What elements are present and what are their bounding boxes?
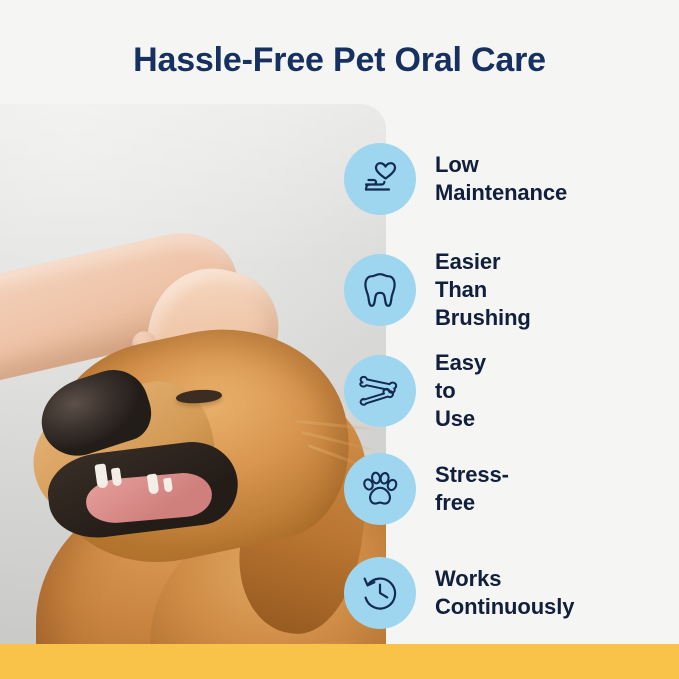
paw-print-icon	[344, 453, 416, 525]
feature-label: Works Continuously	[435, 565, 574, 621]
feature-item-stress-free: Stress-free	[344, 453, 509, 525]
bottom-accent-bar	[0, 644, 679, 679]
product-photo	[0, 104, 386, 644]
feature-label: Low Maintenance	[435, 151, 567, 207]
feature-item-low-maintenance: Low Maintenance	[344, 143, 567, 215]
heart-in-hand-icon	[344, 143, 416, 215]
feature-item-works-continuously: Works Continuously	[344, 557, 574, 629]
crossed-bones-icon	[344, 355, 416, 427]
tooth-icon	[344, 254, 416, 326]
clock-refresh-icon	[344, 557, 416, 629]
feature-label: Stress-free	[435, 461, 509, 517]
feature-label: Easy to Use	[435, 349, 486, 433]
promotional-poster: Hassle-Free Pet Oral Care	[0, 0, 679, 679]
feature-label: Easier Than Brushing	[435, 248, 531, 332]
feature-item-easy-to-use: Easy to Use	[344, 349, 486, 433]
feature-item-easier-than-brushing: Easier Than Brushing	[344, 248, 531, 332]
page-title: Hassle-Free Pet Oral Care	[0, 38, 679, 82]
